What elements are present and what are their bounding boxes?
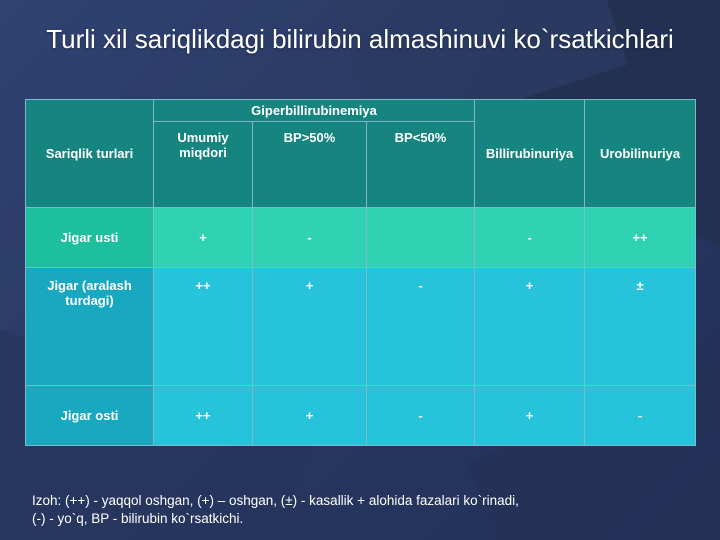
bilirubin-table: Sariqlik turlari Giperbillirubinemiya Bi…: [25, 99, 696, 446]
cell-jigar-usti-urobilinuriya: ++: [585, 208, 696, 268]
page-title: Turli xil sariqlikdagi bilirubin almashi…: [30, 22, 690, 56]
cell-jigar-osti-urobilinuriya: -: [585, 386, 696, 446]
header-urobilinuriya: Urobilinuriya: [585, 100, 696, 208]
cell-jigar-usti-bp-gt: -: [253, 208, 367, 268]
bilirubin-table-container: Sariqlik turlari Giperbillirubinemiya Bi…: [25, 99, 695, 446]
cell-jigar-osti-bp-gt: +: [253, 386, 367, 446]
table-legend-note: Izoh: (++) - yaqqol oshgan, (+) – oshgan…: [32, 492, 692, 528]
table-row: Jigar osti ++ + - + -: [26, 386, 696, 446]
cell-jigar-osti-umumiy: ++: [154, 386, 253, 446]
cell-jigar-aralash-umumiy: ++: [154, 268, 253, 386]
row-label-jigar-osti: Jigar osti: [26, 386, 154, 446]
table-row: Jigar (aralash turdagi) ++ + - + ±: [26, 268, 696, 386]
legend-line-1: Izoh: (++) - yaqqol oshgan, (+) – oshgan…: [32, 492, 692, 510]
cell-jigar-usti-umumiy: +: [154, 208, 253, 268]
header-bp-greater-50: BP>50%: [253, 122, 367, 208]
cell-jigar-osti-bp-lt: -: [367, 386, 475, 446]
legend-line-2: (-) - yo`q, BP - bilirubin ko`rsatkichi.: [32, 510, 692, 528]
cell-jigar-usti-bp-lt: [367, 208, 475, 268]
cell-jigar-aralash-urobilinuriya: ±: [585, 268, 696, 386]
slide-canvas: uz Hujjat Turli xil sariqlikdagi bilirub…: [0, 0, 720, 540]
row-label-jigar-aralash: Jigar (aralash turdagi): [26, 268, 154, 386]
row-label-jigar-usti: Jigar usti: [26, 208, 154, 268]
header-bp-less-50: BP<50%: [367, 122, 475, 208]
cell-jigar-aralash-bp-gt: +: [253, 268, 367, 386]
header-billirubinuriya: Billirubinuriya: [475, 100, 585, 208]
cell-jigar-aralash-billirubinuriya: +: [475, 268, 585, 386]
cell-jigar-osti-billirubinuriya: +: [475, 386, 585, 446]
table-row: Jigar usti + - - ++: [26, 208, 696, 268]
cell-jigar-usti-billirubinuriya: -: [475, 208, 585, 268]
table-header-row-top: Sariqlik turlari Giperbillirubinemiya Bi…: [26, 100, 696, 122]
cell-jigar-aralash-bp-lt: -: [367, 268, 475, 386]
header-umumiy-miqdori: Umumiy miqdori: [154, 122, 253, 208]
header-sariqlik-turlari: Sariqlik turlari: [26, 100, 154, 208]
header-giperbillirubinemiya: Giperbillirubinemiya: [154, 100, 475, 122]
